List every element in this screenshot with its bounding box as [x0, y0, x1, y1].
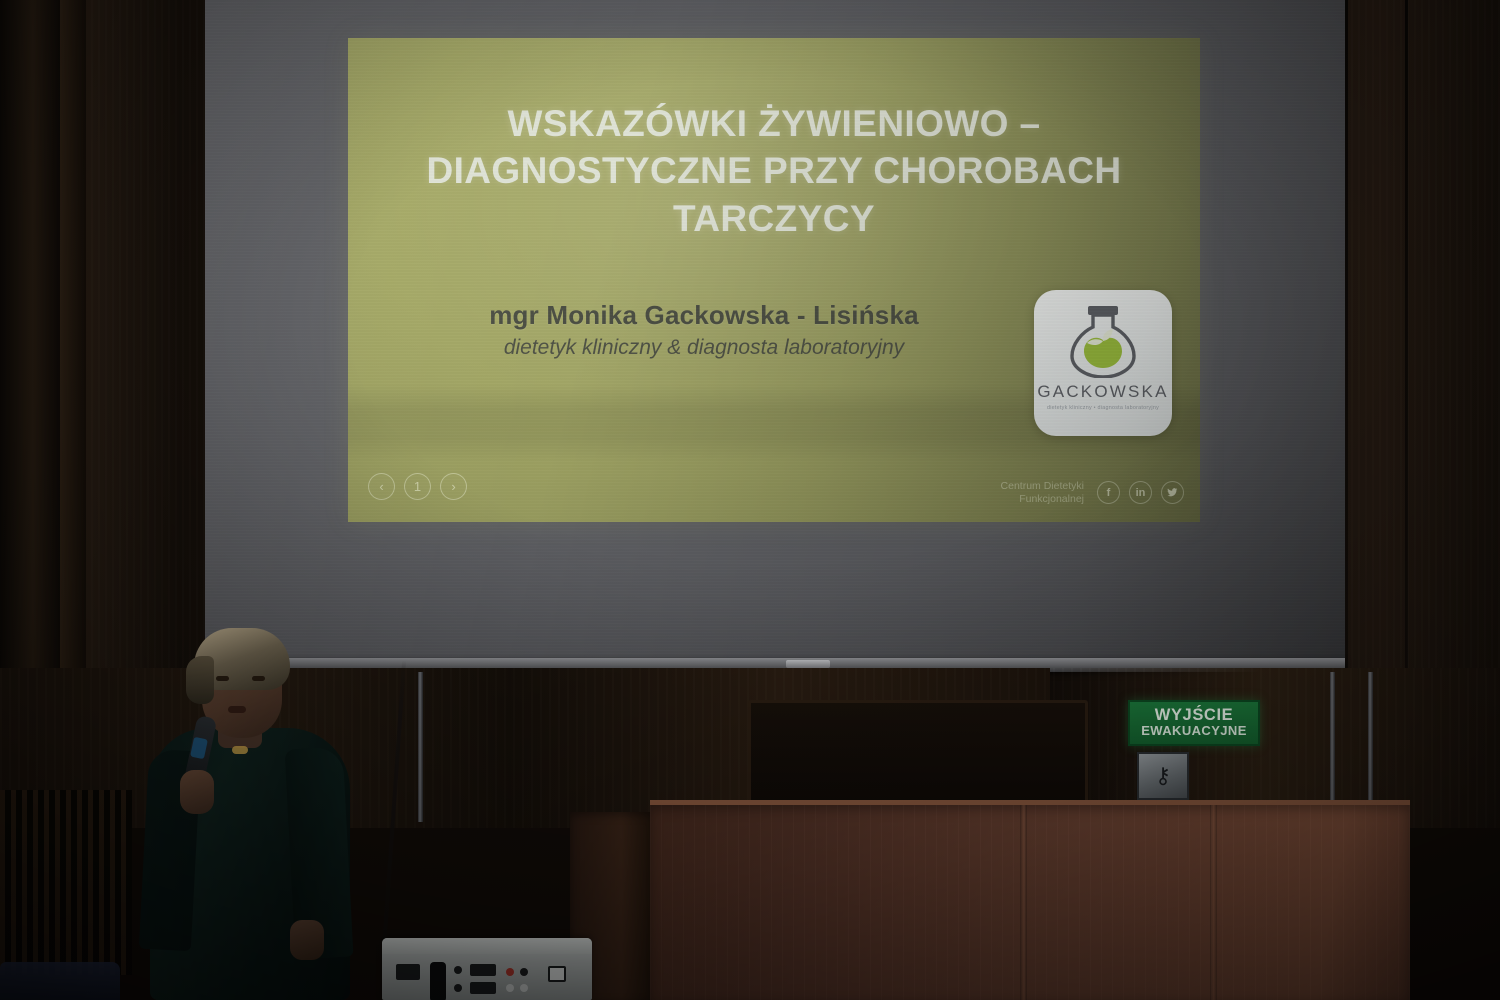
wall-rail [418, 672, 423, 822]
screen-pull-handle[interactable] [786, 660, 830, 668]
wooden-lectern [650, 800, 1410, 1000]
projector-ethernet-port [548, 966, 566, 982]
projector-port [506, 968, 514, 976]
projector-vga-cable [430, 962, 446, 1000]
projector-port [396, 964, 420, 980]
projector-port [454, 984, 462, 992]
exit-sign-line2: EWAKUACYJNE [1141, 723, 1247, 739]
emergency-exit-sign: WYJŚCIE EWAKUACYJNE [1128, 700, 1260, 746]
projector-port [520, 984, 528, 992]
exit-sign-line1: WYJŚCIE [1155, 707, 1233, 724]
ceiling-projector [382, 938, 592, 1000]
projector-port [470, 982, 496, 994]
projector-port [520, 968, 528, 976]
radiator-cover [0, 790, 132, 975]
wall-column-left [0, 0, 60, 700]
screen-lighting-overlay [205, 0, 1345, 672]
presenter-eye-left [216, 676, 229, 681]
projector-port [454, 966, 462, 974]
wall-column-left-inner [60, 0, 86, 700]
projector-port [506, 984, 514, 992]
presenter-hand-holding-mic [180, 770, 214, 814]
wall-seam [1405, 0, 1408, 672]
lectern-seam [1210, 805, 1217, 1000]
lecture-hall-scene: WSKAZÓWKI ŻYWIENIOWO – DIAGNOSTYCZNE PRZ… [0, 0, 1500, 1000]
key-glyph: ⚷ [1155, 763, 1171, 789]
presenter-mouth [228, 706, 246, 713]
projection-screen: WSKAZÓWKI ŻYWIENIOWO – DIAGNOSTYCZNE PRZ… [205, 0, 1345, 672]
presenter-hair-side [186, 656, 214, 704]
presenter-eye-right [252, 676, 265, 681]
projector-port [470, 964, 496, 976]
presenter [140, 620, 360, 1000]
projector-top-shell [382, 938, 592, 954]
wall-seam [1345, 0, 1348, 672]
lectern-seam [1020, 805, 1027, 1000]
chair [0, 962, 120, 1000]
presenter-hand-right [290, 920, 324, 960]
key-icon: ⚷ [1137, 752, 1189, 800]
presenter-necklace [232, 746, 248, 754]
